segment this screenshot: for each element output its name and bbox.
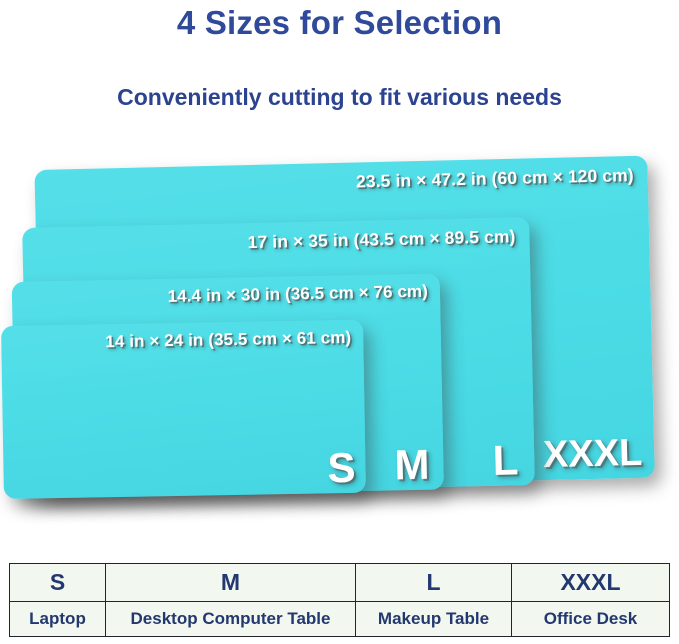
table-cell-use-case-l: Makeup Table <box>356 602 512 637</box>
table-cell-size-code-l: L <box>356 564 512 602</box>
size-usage-table: S M L XXXL Laptop Desktop Computer Table… <box>9 563 670 637</box>
mat-xxxl-size-letter: XXXL <box>543 434 643 474</box>
table-cell-use-case-m: Desktop Computer Table <box>106 602 356 637</box>
mat-s-size-letter: S <box>327 447 356 489</box>
mat-s: 14 in × 24 in (35.5 cm × 61 cm) S <box>1 320 366 499</box>
mat-m-dimension-label: 14.4 in × 30 in (36.5 cm × 76 cm) <box>167 282 428 307</box>
table-cell-size-code-s: S <box>10 564 106 602</box>
page-title: 4 Sizes for Selection <box>0 4 679 42</box>
mat-s-dimension-label: 14 in × 24 in (35.5 cm × 61 cm) <box>105 328 351 352</box>
mat-m-size-letter: M <box>394 444 430 487</box>
mat-l-dimension-label: 17 in × 35 in (43.5 cm × 89.5 cm) <box>247 226 515 253</box>
mat-size-stack-illustration: 23.5 in × 47.2 in (60 cm × 120 cm) XXXL … <box>0 150 679 550</box>
table-cell-use-case-xxxl: Office Desk <box>512 602 670 637</box>
table-row-use-cases: Laptop Desktop Computer Table Makeup Tab… <box>10 602 670 637</box>
mat-l-size-letter: L <box>492 439 519 482</box>
table-row-size-codes: S M L XXXL <box>10 564 670 602</box>
page-subtitle: Conveniently cutting to fit various need… <box>0 84 679 111</box>
table-cell-size-code-xxxl: XXXL <box>512 564 670 602</box>
table-cell-use-case-s: Laptop <box>10 602 106 637</box>
table-cell-size-code-m: M <box>106 564 356 602</box>
mat-xxxl-dimension-label: 23.5 in × 47.2 in (60 cm × 120 cm) <box>356 165 634 193</box>
